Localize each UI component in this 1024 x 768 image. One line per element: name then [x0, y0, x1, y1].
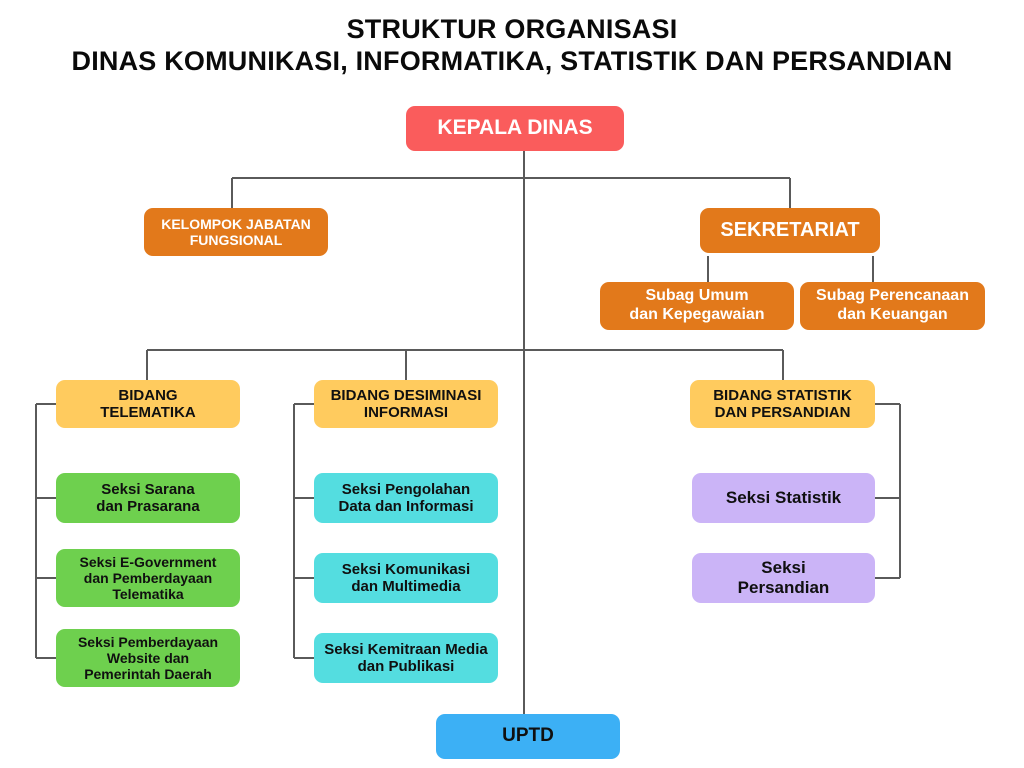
node-sekretariat[interactable]: SEKRETARIAT [700, 208, 880, 253]
node-subag-perencanaan-dan-keuangan[interactable]: Subag Perencanaan dan Keuangan [800, 282, 985, 330]
node-kelompok-jabatan-fungsional[interactable]: KELOMPOK JABATAN FUNGSIONAL [144, 208, 328, 256]
chart-title: STRUKTUR ORGANISASI DINAS KOMUNIKASI, IN… [0, 14, 1024, 78]
node-bidang-statistik-dan-persandian[interactable]: BIDANG STATISTIK DAN PERSANDIAN [690, 380, 875, 428]
node-uptd[interactable]: UPTD [436, 714, 620, 759]
node-seksi-komunikasi-dan-multimedia[interactable]: Seksi Komunikasi dan Multimedia [314, 553, 498, 603]
node-seksi-statistik[interactable]: Seksi Statistik [692, 473, 875, 523]
org-chart: STRUKTUR ORGANISASI DINAS KOMUNIKASI, IN… [0, 0, 1024, 768]
node-seksi-sarana-dan-prasarana[interactable]: Seksi Sarana dan Prasarana [56, 473, 240, 523]
node-seksi-e-government-dan-pemberdayaan-telematika[interactable]: Seksi E-Government dan Pemberdayaan Tele… [56, 549, 240, 607]
node-seksi-pemberdayaan-website-dan-pemerintah-daerah[interactable]: Seksi Pemberdayaan Website dan Pemerinta… [56, 629, 240, 687]
node-kepala-dinas[interactable]: KEPALA DINAS [406, 106, 624, 151]
node-subag-umum-dan-kepegawaian[interactable]: Subag Umum dan Kepegawaian [600, 282, 794, 330]
node-seksi-kemitraan-media-dan-publikasi[interactable]: Seksi Kemitraan Media dan Publikasi [314, 633, 498, 683]
page-title-line-1: STRUKTUR ORGANISASI [0, 14, 1024, 46]
page-title-line-2: DINAS KOMUNIKASI, INFORMATIKA, STATISTIK… [0, 46, 1024, 78]
node-seksi-pengolahan-data-dan-informasi[interactable]: Seksi Pengolahan Data dan Informasi [314, 473, 498, 523]
node-seksi-persandian[interactable]: Seksi Persandian [692, 553, 875, 603]
node-bidang-desiminasi-informasi[interactable]: BIDANG DESIMINASI INFORMASI [314, 380, 498, 428]
node-bidang-telematika[interactable]: BIDANG TELEMATIKA [56, 380, 240, 428]
